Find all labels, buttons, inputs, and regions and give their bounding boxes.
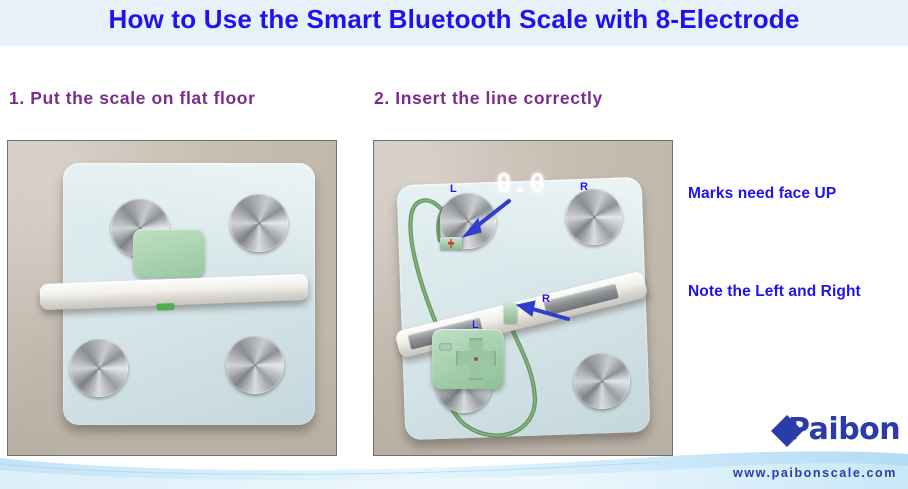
arrow-pointing-handle-connector-icon: [514, 299, 570, 325]
step-2-label: 2. Insert the line correctly: [374, 88, 603, 109]
website-url[interactable]: www.paibonscale.com: [733, 466, 897, 480]
marker-left-handle: L: [472, 319, 479, 331]
brand-logo[interactable]: Paibon: [770, 410, 902, 452]
brand-name: Paibon: [788, 412, 900, 447]
red-cross-marker-icon: [448, 239, 454, 248]
marker-right-top: R: [580, 181, 588, 193]
electrode-top-right: [566, 189, 622, 245]
marker-left-top: L: [450, 183, 457, 195]
electrode-bottom-right: [226, 336, 284, 394]
electrode-top-right: [230, 194, 288, 252]
electrode-bottom-left: [70, 339, 128, 397]
holder-slot: [439, 343, 452, 351]
step-1-label: 1. Put the scale on flat floor: [9, 88, 256, 109]
cable-cross-holder: [432, 329, 504, 389]
arrow-pointing-top-connector-icon: [459, 199, 511, 239]
page-title: How to Use the Smart Bluetooth Scale wit…: [0, 4, 908, 35]
green-accessory-pad: [133, 229, 205, 277]
electrode-bottom-right: [574, 353, 630, 409]
holder-screw-dot: [474, 357, 478, 361]
weight-display: 0.0: [492, 169, 550, 199]
step-1-photo: [7, 140, 337, 456]
step-2-photo: 0.0 L R L R: [373, 140, 673, 456]
annotation-left-and-right: Note the Left and Right: [688, 283, 861, 301]
annotation-marks-face-up: Marks need face UP: [688, 185, 836, 203]
